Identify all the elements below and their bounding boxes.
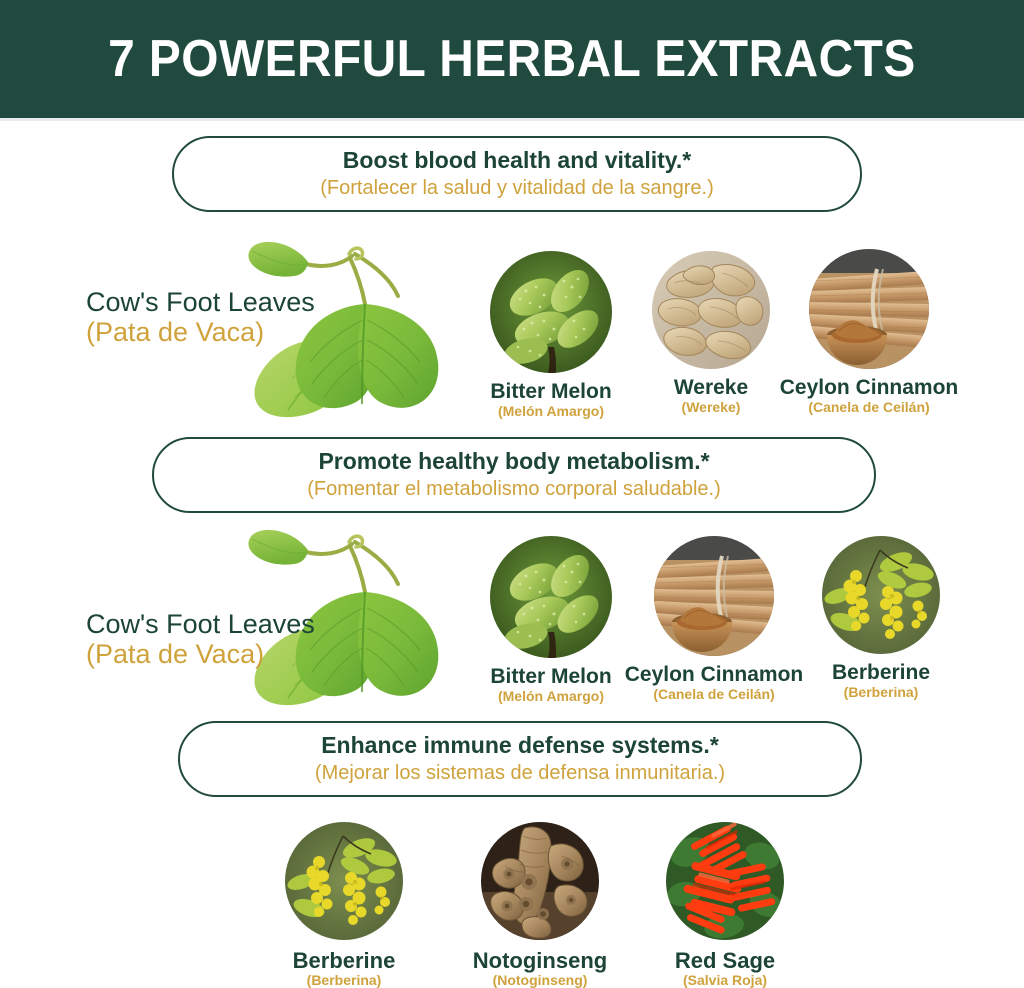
ingredient-ceylon-cinnamon-2-spanish: (Canela de Ceilán) (653, 687, 774, 702)
ceylon-cinnamon-icon-1 (809, 249, 929, 369)
ingredient-wereke-spanish: (Wereke) (682, 400, 741, 415)
ingredient-ceylon-cinnamon-2: Ceylon Cinnamon (Canela de Ceilán) (653, 536, 775, 702)
benefit-banner-2: Promote healthy body metabolism.* (Fomen… (152, 437, 876, 513)
red-sage-icon (666, 822, 784, 940)
ingredient-berberine-1: Berberine (Berberina) (822, 536, 940, 700)
hero-label-1: Cow's Foot Leaves (Pata de Vaca) (86, 288, 315, 347)
ingredient-red-sage-english: Red Sage (675, 949, 775, 972)
benefit-banner-3-english: Enhance immune defense systems.* (321, 733, 719, 759)
ingredient-red-sage: Red Sage (Salvia Roja) (664, 822, 786, 988)
ingredient-berberine-1-english: Berberine (832, 662, 930, 684)
benefit-banner-3: Enhance immune defense systems.* (Mejora… (178, 721, 862, 797)
bitter-melon-icon-1 (490, 251, 612, 373)
benefit-banner-2-english: Promote healthy body metabolism.* (318, 449, 709, 475)
ingredient-notoginseng-english: Notoginseng (473, 949, 607, 972)
infographic-page: 7 POWERFUL HERBAL EXTRACTS Boost blood h… (0, 0, 1024, 984)
wereke-icon (652, 251, 770, 369)
ingredient-notoginseng-spanish: (Notoginseng) (493, 973, 588, 988)
ingredient-red-sage-spanish: (Salvia Roja) (683, 973, 767, 988)
benefit-banner-2-spanish: (Fomentar el metabolismo corporal saluda… (307, 477, 721, 501)
bitter-melon-icon-2 (490, 536, 612, 658)
page-title: 7 POWERFUL HERBAL EXTRACTS (108, 29, 916, 89)
ingredient-ceylon-cinnamon-1: Ceylon Cinnamon (Canela de Ceilán) (808, 249, 930, 415)
cows-foot-leaves-icon-2 (222, 506, 470, 706)
berberine-icon-2 (285, 822, 403, 940)
hero-label-2: Cow's Foot Leaves (Pata de Vaca) (86, 610, 315, 669)
ingredient-berberine-2-spanish: (Berberina) (307, 973, 382, 988)
ingredient-notoginseng: Notoginseng (Notoginseng) (478, 822, 602, 988)
ingredient-bitter-melon-2: Bitter Melon (Melón Amargo) (487, 536, 615, 704)
ingredient-berberine-2: Berberine (Berberina) (282, 822, 406, 988)
benefit-banner-1: Boost blood health and vitality.* (Forta… (172, 136, 862, 212)
ingredient-bitter-melon-1-spanish: (Melón Amargo) (498, 404, 604, 419)
ingredient-bitter-melon-1: Bitter Melon (Melón Amargo) (487, 251, 615, 419)
benefit-banner-1-english: Boost blood health and vitality.* (343, 148, 691, 174)
ingredient-bitter-melon-2-spanish: (Melón Amargo) (498, 689, 604, 704)
ingredient-bitter-melon-1-english: Bitter Melon (490, 381, 611, 403)
ingredient-ceylon-cinnamon-2-english: Ceylon Cinnamon (625, 664, 804, 686)
hero-label-1-english: Cow's Foot Leaves (86, 288, 315, 318)
notoginseng-icon (481, 822, 599, 940)
hero-label-2-spanish: (Pata de Vaca) (86, 640, 315, 670)
ingredient-ceylon-cinnamon-1-spanish: (Canela de Ceilán) (808, 400, 929, 415)
ingredient-wereke-english: Wereke (674, 377, 748, 399)
benefit-banner-1-spanish: (Fortalecer la salud y vitalidad de la s… (320, 176, 714, 200)
ceylon-cinnamon-icon-2 (654, 536, 774, 656)
ingredient-ceylon-cinnamon-1-english: Ceylon Cinnamon (780, 377, 959, 399)
hero-label-2-english: Cow's Foot Leaves (86, 610, 315, 640)
berberine-icon-1 (822, 536, 940, 654)
ingredient-bitter-melon-2-english: Bitter Melon (490, 666, 611, 688)
ingredient-wereke: Wereke (Wereke) (650, 251, 772, 415)
header-banner: 7 POWERFUL HERBAL EXTRACTS (0, 0, 1024, 118)
ingredient-berberine-1-spanish: (Berberina) (844, 685, 919, 700)
header-divider (0, 118, 1024, 121)
hero-label-1-spanish: (Pata de Vaca) (86, 318, 315, 348)
benefit-banner-3-spanish: (Mejorar los sistemas de defensa inmunit… (315, 761, 725, 785)
ingredient-berberine-2-english: Berberine (293, 949, 396, 972)
